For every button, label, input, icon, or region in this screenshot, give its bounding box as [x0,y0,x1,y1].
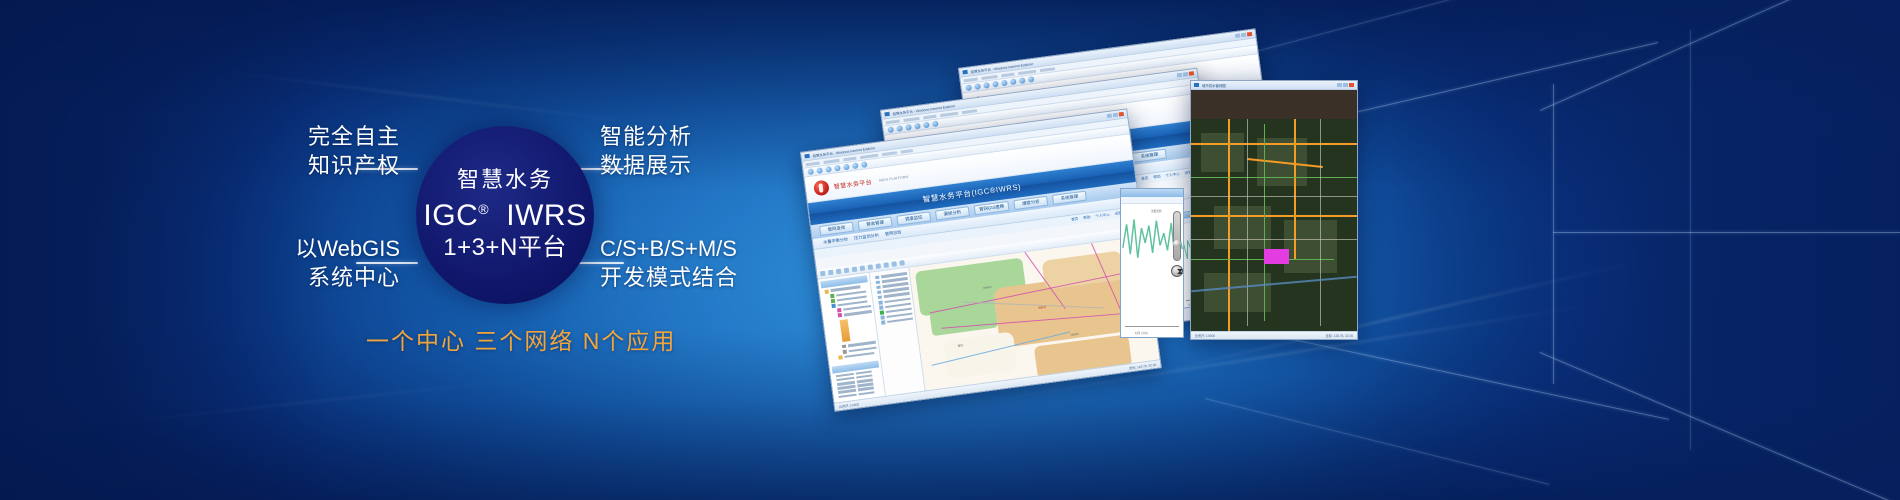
window-icon [962,70,967,75]
core-iwrs: IWRS [506,199,586,232]
close-icon[interactable] [1247,32,1252,37]
app-window-satellite[interactable]: 城市供水管网图 [1190,80,1358,340]
print-icon[interactable] [899,260,905,266]
background-right-shade [1280,0,1900,500]
settings-icon[interactable] [1010,78,1017,85]
coordinate-label: 坐标: 118.78, 32.06 [1326,333,1353,338]
brand-subtitle: IWRS PLATFORM [879,174,909,182]
window-icon [1194,83,1199,87]
window-controls[interactable] [1107,112,1124,118]
maximize-icon[interactable] [1113,113,1118,118]
core-circle-badge: 智慧水务 IGC® IWRS 1+3+N平台 [416,126,594,304]
close-icon[interactable] [1189,71,1194,76]
layer-icon[interactable] [891,261,897,267]
refresh-icon[interactable] [983,82,990,89]
forward-icon[interactable] [974,83,981,90]
back-icon[interactable] [807,168,814,175]
core-platform: 1+3+N平台 [443,235,567,261]
close-icon[interactable] [1119,112,1124,117]
sub-tab[interactable]: 水量平衡分析 [823,236,849,245]
util-link[interactable]: 帮助 [1083,215,1091,221]
water-drop-logo-icon [813,180,830,197]
scale-label: 比例尺 1:5000 [1195,333,1215,338]
status-bar: 比例尺 1:5000 坐标: 118.78, 32.06 [1191,331,1357,339]
banner-stage: 完全自主 知识产权 以WebGIS 系统中心 智能分析 数据展示 C/S+B/S… [0,0,1900,500]
window-controls[interactable] [1177,71,1194,77]
pan-icon[interactable] [844,268,850,274]
label-top-left-line2: 知识产权 [180,151,400,180]
forward-icon[interactable] [896,125,903,132]
window-icon [804,154,809,159]
chart-x-label: 时间 (小时) [1135,331,1148,335]
refresh-icon[interactable] [905,124,912,131]
core-igc: IGC [423,199,478,232]
maximize-icon[interactable] [1241,33,1246,38]
satellite-urban-strip [1191,90,1357,119]
home-icon[interactable] [834,165,841,172]
label-bottom-left-line2: 系统中心 [160,263,400,292]
identify-icon[interactable] [883,262,889,268]
close-icon[interactable] [1349,83,1354,87]
screenshot-stack: 智慧水务平台 - Windows Internet Explorer 智慧水务平… [790,40,1350,370]
util-link[interactable]: 个人中心 [1165,172,1180,179]
label-bottom-left-line1: 以WebGIS [160,234,400,263]
print-icon[interactable] [923,122,930,129]
print-icon[interactable] [1001,80,1008,87]
back-icon[interactable] [887,126,894,133]
chart-titlebar[interactable] [1121,189,1183,197]
forward-icon[interactable] [816,167,823,174]
util-link[interactable]: 首页 [1141,176,1149,182]
open-icon[interactable] [828,270,834,276]
minimize-icon[interactable] [1107,113,1112,118]
label-top-left: 完全自主 知识产权 [180,122,400,181]
selected-area-highlight[interactable] [1264,249,1289,263]
core-title: 智慧水务 [457,168,553,192]
window-title: 城市供水管网图 [1202,83,1334,88]
save-icon[interactable] [836,269,842,275]
sub-tab[interactable]: 压力监测分析 [854,232,880,241]
map-navigation-pad[interactable] [1171,265,1183,277]
maximize-icon[interactable] [1343,83,1348,87]
core-product-code: IGC® IWRS [423,200,586,232]
minimize-icon[interactable] [1337,83,1342,87]
help-icon[interactable] [1019,77,1026,84]
label-top-left-line1: 完全自主 [180,122,400,151]
app-window-front[interactable]: 智慧水务平台 - Windows Internet Explorer 智慧水务平… [800,108,1162,411]
sub-tab[interactable]: 管网巡检 [885,229,902,237]
measure-icon[interactable] [875,263,881,269]
panel-flow-chart[interactable]: 流量监测 时间 (小时) [1120,188,1184,338]
print-icon[interactable] [843,164,850,171]
refresh-icon[interactable] [825,166,832,173]
zoom-out-icon[interactable] [860,265,866,271]
registered-icon: ® [478,201,488,217]
satellite-map-canvas[interactable] [1191,90,1357,331]
window-controls[interactable] [1235,32,1252,38]
chart-toolbar[interactable] [1121,197,1183,204]
chart-zoom-slider[interactable] [1173,211,1181,261]
util-link[interactable]: 帮助 [1153,175,1161,181]
back-icon[interactable] [965,84,972,91]
brand-name: 智慧水务平台 [833,177,872,191]
scale-label: 比例尺 1:5000 [839,401,860,409]
coordinate-label: 坐标: 118.78, 32.06 [1129,362,1157,371]
slider-knob[interactable] [1173,240,1181,247]
settings-icon[interactable] [932,120,939,127]
home-icon[interactable] [914,123,921,130]
zoom-in-icon[interactable] [852,267,858,273]
chart-x-axis [1125,326,1179,327]
settings-icon[interactable] [852,162,859,169]
user-icon[interactable] [1028,76,1035,83]
minimize-icon[interactable] [1235,33,1240,38]
home-icon[interactable] [992,81,999,88]
window-controls[interactable] [1337,83,1354,87]
maximize-icon[interactable] [1183,72,1188,77]
chart-title: 流量监测 [1151,209,1161,213]
minimize-icon[interactable] [1177,73,1182,78]
select-icon[interactable] [868,264,874,270]
tagline: 一个中心 三个网络 N个应用 [366,322,676,356]
util-link[interactable]: 个人中心 [1095,213,1110,220]
concept-diagram: 完全自主 知识产权 以WebGIS 系统中心 智能分析 数据展示 C/S+B/S… [0,0,820,500]
titlebar[interactable]: 城市供水管网图 [1191,81,1357,90]
new-icon[interactable] [820,271,826,277]
label-bottom-left: 以WebGIS 系统中心 [160,234,400,293]
map-label: 泵站 [957,343,963,348]
help-icon[interactable] [861,161,868,168]
util-link[interactable]: 首页 [1071,217,1079,223]
window-icon [884,112,889,117]
